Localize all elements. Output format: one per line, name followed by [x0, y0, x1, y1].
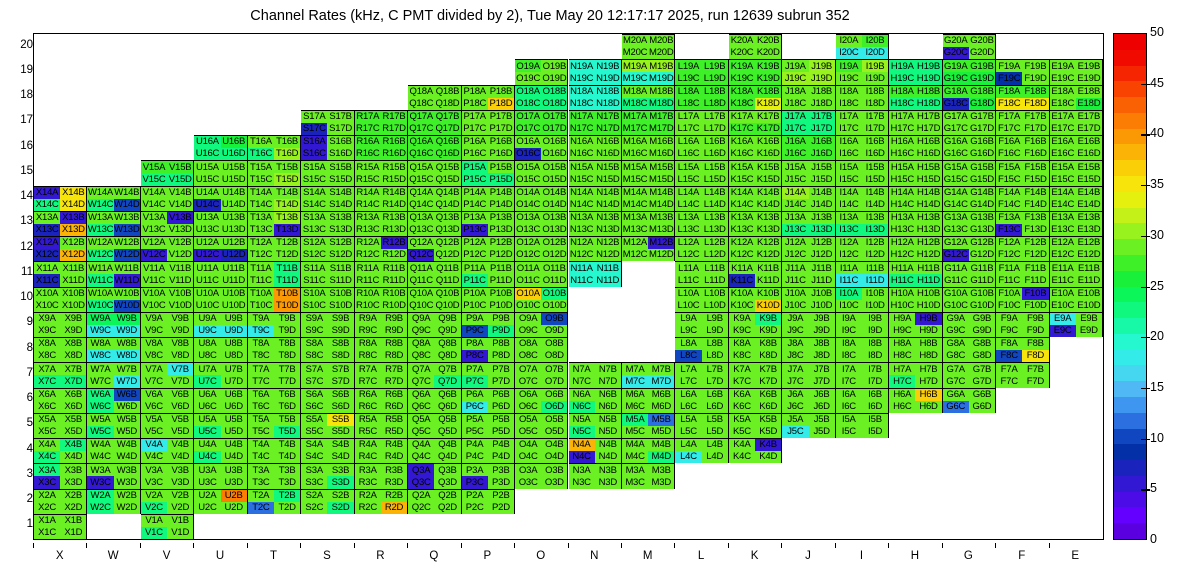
pmt-channel-cell[interactable]: N3C	[569, 476, 595, 488]
pmt-channel-cell[interactable]: F7C	[996, 375, 1022, 387]
pmt-channel-cell[interactable]: S8D	[327, 350, 353, 362]
pmt-channel-cell[interactable]: H13C	[889, 224, 915, 236]
pmt-supercell[interactable]: Q9AQ9BQ9CQ9D	[408, 312, 461, 337]
pmt-channel-cell[interactable]: U11B	[221, 262, 247, 274]
pmt-channel-cell[interactable]: Q2D	[434, 502, 460, 514]
pmt-supercell[interactable]: H8AH8BH8CH8D	[889, 337, 942, 362]
pmt-supercell[interactable]: Q6AQ6BQ6CQ6D	[408, 388, 461, 413]
pmt-channel-cell[interactable]: E14D	[1076, 199, 1102, 211]
pmt-channel-cell[interactable]: U7A	[194, 363, 220, 375]
pmt-channel-cell[interactable]: J7D	[809, 375, 835, 387]
pmt-supercell[interactable]: V15AV15BV15CV15D	[141, 160, 194, 185]
pmt-channel-cell[interactable]: V15C	[141, 173, 167, 185]
pmt-supercell[interactable]: M13AM13BM13CM13D	[622, 211, 675, 236]
pmt-supercell[interactable]: O4AO4BO4CO4D	[515, 438, 568, 463]
pmt-channel-cell[interactable]: L14D	[702, 199, 728, 211]
pmt-channel-cell[interactable]: J6A	[782, 389, 808, 401]
pmt-channel-cell[interactable]: I16B	[862, 136, 888, 148]
pmt-channel-cell[interactable]: X14A	[34, 187, 60, 199]
pmt-supercell[interactable]: I20AI20BI20CI20D	[836, 34, 889, 59]
pmt-channel-cell[interactable]: X5D	[60, 426, 86, 438]
pmt-supercell[interactable]: R7AR7BR7CR7D	[355, 362, 408, 387]
pmt-channel-cell[interactable]: N16B	[595, 136, 621, 148]
pmt-supercell[interactable]: G17AG17BG17CG17D	[943, 110, 996, 135]
pmt-channel-cell[interactable]: M16A	[622, 136, 648, 148]
pmt-channel-cell[interactable]: U9C	[194, 325, 220, 337]
pmt-supercell[interactable]: T12AT12BT12CT12D	[248, 236, 301, 261]
pmt-supercell[interactable]: N4AN4BN4CN4D	[569, 438, 622, 463]
pmt-channel-cell[interactable]: L4A	[675, 439, 701, 451]
pmt-channel-cell[interactable]: Q10C	[408, 300, 434, 312]
pmt-channel-cell[interactable]: K9D	[755, 325, 781, 337]
pmt-supercell[interactable]: X1AX1BX1CX1D	[34, 514, 87, 539]
pmt-channel-cell[interactable]: Q9C	[408, 325, 434, 337]
pmt-channel-cell[interactable]: J8D	[809, 350, 835, 362]
pmt-channel-cell[interactable]: L18A	[675, 86, 701, 98]
pmt-channel-cell[interactable]: R8B	[381, 338, 407, 350]
pmt-channel-cell[interactable]: M20A	[622, 35, 648, 47]
pmt-channel-cell[interactable]: Q17A	[408, 111, 434, 123]
pmt-channel-cell[interactable]: S11C	[301, 274, 327, 286]
pmt-channel-cell[interactable]: V14B	[167, 187, 193, 199]
pmt-channel-cell[interactable]: Q7D	[434, 375, 460, 387]
pmt-channel-cell[interactable]: O11B	[541, 262, 567, 274]
pmt-channel-cell[interactable]: T14A	[248, 187, 274, 199]
pmt-channel-cell[interactable]: G8A	[943, 338, 969, 350]
pmt-channel-cell[interactable]: L11C	[675, 274, 701, 286]
pmt-channel-cell[interactable]: E10A	[1050, 288, 1076, 300]
pmt-channel-cell[interactable]: O16C	[515, 148, 541, 160]
pmt-channel-cell[interactable]: F12A	[996, 237, 1022, 249]
pmt-channel-cell[interactable]: J19B	[809, 60, 835, 72]
pmt-channel-cell[interactable]: M19A	[622, 60, 648, 72]
pmt-channel-cell[interactable]: G7D	[969, 375, 995, 387]
pmt-channel-cell[interactable]: M14B	[648, 187, 674, 199]
pmt-channel-cell[interactable]: Q9D	[434, 325, 460, 337]
pmt-channel-cell[interactable]: R4C	[355, 451, 381, 463]
pmt-channel-cell[interactable]: K19C	[729, 72, 755, 84]
pmt-channel-cell[interactable]: P9C	[462, 325, 488, 337]
pmt-channel-cell[interactable]: F16B	[1022, 136, 1048, 148]
pmt-channel-cell[interactable]: T2D	[274, 502, 300, 514]
pmt-channel-cell[interactable]: N14B	[595, 187, 621, 199]
pmt-channel-cell[interactable]: W11B	[114, 262, 140, 274]
pmt-channel-cell[interactable]: H16D	[915, 148, 941, 160]
pmt-supercell[interactable]: N16AN16BN16CN16D	[569, 135, 622, 160]
pmt-channel-cell[interactable]: L4C	[675, 451, 701, 463]
pmt-channel-cell[interactable]: T4A	[248, 439, 274, 451]
pmt-channel-cell[interactable]: L19C	[675, 72, 701, 84]
pmt-supercell[interactable]: M20AM20BM20CM20D	[622, 34, 675, 59]
pmt-supercell[interactable]: V6AV6BV6CV6D	[141, 388, 194, 413]
pmt-channel-cell[interactable]: R13A	[355, 212, 381, 224]
pmt-supercell[interactable]: J8AJ8BJ8CJ8D	[782, 337, 835, 362]
pmt-supercell[interactable]: K12AK12BK12CK12D	[729, 236, 782, 261]
pmt-channel-cell[interactable]: W6D	[114, 401, 140, 413]
pmt-channel-cell[interactable]: K4B	[755, 439, 781, 451]
pmt-channel-cell[interactable]: P15D	[488, 173, 514, 185]
pmt-channel-cell[interactable]: O6B	[541, 389, 567, 401]
pmt-channel-cell[interactable]: P9B	[488, 313, 514, 325]
pmt-channel-cell[interactable]: K14A	[729, 187, 755, 199]
pmt-channel-cell[interactable]: Q3A	[408, 464, 434, 476]
pmt-channel-cell[interactable]: J18C	[782, 98, 808, 110]
pmt-channel-cell[interactable]: G16A	[943, 136, 969, 148]
pmt-channel-cell[interactable]: I14D	[862, 199, 888, 211]
pmt-channel-cell[interactable]: F8A	[996, 338, 1022, 350]
pmt-channel-cell[interactable]: U5A	[194, 414, 220, 426]
pmt-supercell[interactable]: H12AH12BH12CH12D	[889, 236, 942, 261]
pmt-channel-cell[interactable]: O8D	[541, 350, 567, 362]
pmt-channel-cell[interactable]: P7B	[488, 363, 514, 375]
pmt-channel-cell[interactable]: N4B	[595, 439, 621, 451]
pmt-channel-cell[interactable]: O9A	[515, 313, 541, 325]
pmt-channel-cell[interactable]: O3B	[541, 464, 567, 476]
pmt-channel-cell[interactable]: P7A	[462, 363, 488, 375]
pmt-channel-cell[interactable]: W8D	[114, 350, 140, 362]
pmt-channel-cell[interactable]: L17C	[675, 123, 701, 135]
pmt-channel-cell[interactable]: L5D	[702, 426, 728, 438]
pmt-channel-cell[interactable]: J18B	[809, 86, 835, 98]
pmt-channel-cell[interactable]: V15D	[167, 173, 193, 185]
pmt-supercell[interactable]: V14AV14BV14CV14D	[141, 186, 194, 211]
pmt-supercell[interactable]: I7AI7BI7CI7D	[836, 362, 889, 387]
pmt-channel-cell[interactable]: P15C	[462, 173, 488, 185]
pmt-supercell[interactable]: J13AJ13BJ13CJ13D	[782, 211, 835, 236]
pmt-channel-cell[interactable]: L7B	[702, 363, 728, 375]
pmt-supercell[interactable]: P11AP11BP11CP11D	[462, 261, 515, 286]
pmt-channel-cell[interactable]: Q4A	[408, 439, 434, 451]
pmt-supercell[interactable]: I16AI16BI16CI16D	[836, 135, 889, 160]
pmt-supercell[interactable]: Q4AQ4BQ4CQ4D	[408, 438, 461, 463]
pmt-supercell[interactable]: Q16AQ16BQ16CQ16D	[408, 135, 461, 160]
pmt-supercell[interactable]: R5AR5BR5CR5D	[355, 413, 408, 438]
pmt-channel-cell[interactable]: I18B	[862, 86, 888, 98]
pmt-supercell[interactable]: T4AT4BT4CT4D	[248, 438, 301, 463]
pmt-channel-cell[interactable]: Q8D	[434, 350, 460, 362]
pmt-channel-cell[interactable]: V10C	[141, 300, 167, 312]
pmt-channel-cell[interactable]: T8B	[274, 338, 300, 350]
pmt-channel-cell[interactable]: F12D	[1022, 249, 1048, 261]
pmt-channel-cell[interactable]: R12A	[355, 237, 381, 249]
pmt-supercell[interactable]: I14AI14BI14CI14D	[836, 186, 889, 211]
pmt-channel-cell[interactable]: N6C	[569, 401, 595, 413]
pmt-channel-cell[interactable]: T9A	[248, 313, 274, 325]
pmt-channel-cell[interactable]: K13D	[755, 224, 781, 236]
pmt-channel-cell[interactable]: I9B	[862, 313, 888, 325]
pmt-channel-cell[interactable]: M7D	[648, 375, 674, 387]
pmt-channel-cell[interactable]: P8D	[488, 350, 514, 362]
pmt-channel-cell[interactable]: T5B	[274, 414, 300, 426]
pmt-channel-cell[interactable]: Q16A	[408, 136, 434, 148]
pmt-supercell[interactable]: M6AM6BM6CM6D	[622, 388, 675, 413]
pmt-channel-cell[interactable]: J19D	[809, 72, 835, 84]
pmt-supercell[interactable]: E12AE12BE12CE12D	[1050, 236, 1103, 261]
pmt-channel-cell[interactable]: T8A	[248, 338, 274, 350]
pmt-channel-cell[interactable]: X13C	[34, 224, 60, 236]
pmt-channel-cell[interactable]: W8B	[114, 338, 140, 350]
pmt-channel-cell[interactable]: I10D	[862, 300, 888, 312]
pmt-supercell[interactable]: T11AT11BT11CT11D	[248, 261, 301, 286]
pmt-channel-cell[interactable]: M13A	[622, 212, 648, 224]
pmt-channel-cell[interactable]: Q8C	[408, 350, 434, 362]
pmt-channel-cell[interactable]: L8A	[675, 338, 701, 350]
pmt-channel-cell[interactable]: T11A	[248, 262, 274, 274]
pmt-channel-cell[interactable]: F10A	[996, 288, 1022, 300]
pmt-channel-cell[interactable]: E13A	[1050, 212, 1076, 224]
pmt-channel-cell[interactable]: E15D	[1076, 173, 1102, 185]
pmt-supercell[interactable]: H6AH6BH6CH6D	[889, 388, 942, 413]
pmt-channel-cell[interactable]: V2A	[141, 490, 167, 502]
pmt-channel-cell[interactable]: S3D	[327, 476, 353, 488]
pmt-channel-cell[interactable]: N18D	[595, 98, 621, 110]
pmt-channel-cell[interactable]: J10D	[809, 300, 835, 312]
pmt-channel-cell[interactable]: Q9B	[434, 313, 460, 325]
pmt-channel-cell[interactable]: R7B	[381, 363, 407, 375]
pmt-channel-cell[interactable]: L9D	[702, 325, 728, 337]
pmt-channel-cell[interactable]: X13A	[34, 212, 60, 224]
pmt-supercell[interactable]: G13AG13BG13CG13D	[943, 211, 996, 236]
pmt-channel-cell[interactable]: T3A	[248, 464, 274, 476]
pmt-channel-cell[interactable]: W4C	[87, 451, 113, 463]
pmt-channel-cell[interactable]: O7C	[515, 375, 541, 387]
pmt-channel-cell[interactable]: O12D	[541, 249, 567, 261]
pmt-channel-cell[interactable]: F14C	[996, 199, 1022, 211]
pmt-channel-cell[interactable]: K9B	[755, 313, 781, 325]
pmt-channel-cell[interactable]: X3A	[34, 464, 60, 476]
pmt-supercell[interactable]: J9AJ9BJ9CJ9D	[782, 312, 835, 337]
pmt-channel-cell[interactable]: E9D	[1076, 325, 1102, 337]
pmt-channel-cell[interactable]: V8B	[167, 338, 193, 350]
pmt-channel-cell[interactable]: U5D	[221, 426, 247, 438]
pmt-channel-cell[interactable]: J17C	[782, 123, 808, 135]
pmt-channel-cell[interactable]: P3A	[462, 464, 488, 476]
pmt-channel-cell[interactable]: R15B	[381, 161, 407, 173]
pmt-channel-cell[interactable]: E9A	[1050, 313, 1076, 325]
pmt-channel-cell[interactable]: K6C	[729, 401, 755, 413]
pmt-channel-cell[interactable]: V15A	[141, 161, 167, 173]
pmt-channel-cell[interactable]: M6D	[648, 401, 674, 413]
pmt-channel-cell[interactable]: H8A	[889, 338, 915, 350]
pmt-channel-cell[interactable]: P17D	[488, 123, 514, 135]
pmt-channel-cell[interactable]: N16C	[569, 148, 595, 160]
pmt-channel-cell[interactable]: Q7A	[408, 363, 434, 375]
pmt-channel-cell[interactable]: T7C	[248, 375, 274, 387]
pmt-channel-cell[interactable]: U6C	[194, 401, 220, 413]
pmt-channel-cell[interactable]: T2A	[248, 490, 274, 502]
pmt-channel-cell[interactable]: S15A	[301, 161, 327, 173]
pmt-channel-cell[interactable]: M15A	[622, 161, 648, 173]
pmt-channel-cell[interactable]: E17D	[1076, 123, 1102, 135]
pmt-supercell[interactable]: W5AW5BW5CW5D	[87, 413, 140, 438]
pmt-channel-cell[interactable]: P2B	[488, 490, 514, 502]
pmt-channel-cell[interactable]: R7D	[381, 375, 407, 387]
pmt-supercell[interactable]: S12AS12BS12CS12D	[301, 236, 354, 261]
pmt-channel-cell[interactable]: G20D	[969, 47, 995, 59]
pmt-channel-cell[interactable]: U14D	[221, 199, 247, 211]
pmt-channel-cell[interactable]: I12C	[836, 249, 862, 261]
pmt-channel-cell[interactable]: R11C	[355, 274, 381, 286]
pmt-supercell[interactable]: J7AJ7BJ7CJ7D	[782, 362, 835, 387]
pmt-channel-cell[interactable]: F18B	[1022, 86, 1048, 98]
pmt-supercell[interactable]: O10AO10BO10CO10D	[515, 287, 568, 312]
pmt-supercell[interactable]: T14AT14BT14CT14D	[248, 186, 301, 211]
pmt-channel-cell[interactable]: X5A	[34, 414, 60, 426]
pmt-channel-cell[interactable]: O13B	[541, 212, 567, 224]
pmt-channel-cell[interactable]: Q10A	[408, 288, 434, 300]
pmt-channel-cell[interactable]: M19B	[648, 60, 674, 72]
pmt-channel-cell[interactable]: U3A	[194, 464, 220, 476]
pmt-supercell[interactable]: Q15AQ15BQ15CQ15D	[408, 160, 461, 185]
pmt-channel-cell[interactable]: Q2B	[434, 490, 460, 502]
pmt-channel-cell[interactable]: S9A	[301, 313, 327, 325]
pmt-supercell[interactable]: J16AJ16BJ16CJ16D	[782, 135, 835, 160]
pmt-channel-cell[interactable]: R9C	[355, 325, 381, 337]
pmt-channel-cell[interactable]: S5C	[301, 426, 327, 438]
pmt-supercell[interactable]: N6AN6BN6CN6D	[569, 388, 622, 413]
pmt-channel-cell[interactable]: I17B	[862, 111, 888, 123]
pmt-supercell[interactable]: J19AJ19BJ19CJ19D	[782, 59, 835, 84]
pmt-channel-cell[interactable]: S4B	[327, 439, 353, 451]
pmt-supercell[interactable]: U14AU14BU14CU14D	[194, 186, 247, 211]
pmt-channel-cell[interactable]: K4D	[755, 451, 781, 463]
pmt-channel-cell[interactable]: Q6A	[408, 389, 434, 401]
pmt-channel-cell[interactable]: S12C	[301, 249, 327, 261]
pmt-channel-cell[interactable]: G9C	[943, 325, 969, 337]
pmt-channel-cell[interactable]: V11A	[141, 262, 167, 274]
pmt-channel-cell[interactable]: M7A	[622, 363, 648, 375]
pmt-channel-cell[interactable]: S16D	[327, 148, 353, 160]
pmt-channel-cell[interactable]: L9B	[702, 313, 728, 325]
pmt-channel-cell[interactable]: E13C	[1050, 224, 1076, 236]
pmt-channel-cell[interactable]: N18B	[595, 86, 621, 98]
pmt-channel-cell[interactable]: G11D	[969, 274, 995, 286]
pmt-channel-cell[interactable]: J15D	[809, 173, 835, 185]
pmt-channel-cell[interactable]: I10A	[836, 288, 862, 300]
pmt-channel-cell[interactable]: W4A	[87, 439, 113, 451]
pmt-channel-cell[interactable]: M15B	[648, 161, 674, 173]
pmt-channel-cell[interactable]: M15C	[622, 173, 648, 185]
pmt-supercell[interactable]: O13AO13BO13CO13D	[515, 211, 568, 236]
pmt-channel-cell[interactable]: O18C	[515, 98, 541, 110]
pmt-channel-cell[interactable]: E19D	[1076, 72, 1102, 84]
pmt-channel-cell[interactable]: K12B	[755, 237, 781, 249]
pmt-channel-cell[interactable]: E16D	[1076, 148, 1102, 160]
pmt-channel-cell[interactable]: H7C	[889, 375, 915, 387]
pmt-channel-cell[interactable]: S9B	[327, 313, 353, 325]
pmt-channel-cell[interactable]: E16B	[1076, 136, 1102, 148]
pmt-supercell[interactable]: G18AG18BG18CG18D	[943, 85, 996, 110]
pmt-supercell[interactable]: L12AL12BL12CL12D	[675, 236, 728, 261]
pmt-channel-cell[interactable]: I17C	[836, 123, 862, 135]
pmt-channel-cell[interactable]: L16B	[702, 136, 728, 148]
pmt-channel-cell[interactable]: M6A	[622, 389, 648, 401]
pmt-channel-cell[interactable]: H18C	[889, 98, 915, 110]
pmt-channel-cell[interactable]: X7D	[60, 375, 86, 387]
pmt-supercell[interactable]: V12AV12BV12CV12D	[141, 236, 194, 261]
pmt-channel-cell[interactable]: N4C	[569, 451, 595, 463]
pmt-channel-cell[interactable]: O14B	[541, 187, 567, 199]
pmt-channel-cell[interactable]: X6C	[34, 401, 60, 413]
pmt-supercell[interactable]: Q5AQ5BQ5CQ5D	[408, 413, 461, 438]
pmt-channel-cell[interactable]: V1A	[141, 515, 167, 527]
pmt-supercell[interactable]: M17AM17BM17CM17D	[622, 110, 675, 135]
pmt-channel-cell[interactable]: N7A	[569, 363, 595, 375]
pmt-supercell[interactable]: Q8AQ8BQ8CQ8D	[408, 337, 461, 362]
pmt-channel-cell[interactable]: J6D	[809, 401, 835, 413]
pmt-supercell[interactable]: G6AG6BG6CG6D	[943, 388, 996, 413]
pmt-supercell[interactable]: K14AK14BK14CK14D	[729, 186, 782, 211]
pmt-channel-cell[interactable]: L17D	[702, 123, 728, 135]
pmt-supercell[interactable]: O19AO19BO19CO19D	[515, 59, 568, 84]
pmt-channel-cell[interactable]: G7B	[969, 363, 995, 375]
pmt-channel-cell[interactable]: Q11B	[434, 262, 460, 274]
pmt-channel-cell[interactable]: K16C	[729, 148, 755, 160]
pmt-channel-cell[interactable]: R5B	[381, 414, 407, 426]
pmt-channel-cell[interactable]: I15C	[836, 173, 862, 185]
pmt-supercell[interactable]: N12AN12BN12CN12D	[569, 236, 622, 261]
pmt-channel-cell[interactable]: E16C	[1050, 148, 1076, 160]
pmt-channel-cell[interactable]: E10D	[1076, 300, 1102, 312]
pmt-channel-cell[interactable]: K6A	[729, 389, 755, 401]
pmt-channel-cell[interactable]: O14D	[541, 199, 567, 211]
pmt-supercell[interactable]: Q2AQ2BQ2CQ2D	[408, 489, 461, 514]
pmt-channel-cell[interactable]: K20B	[755, 35, 781, 47]
pmt-channel-cell[interactable]: R17B	[381, 111, 407, 123]
pmt-channel-cell[interactable]: V5B	[167, 414, 193, 426]
pmt-channel-cell[interactable]: L15D	[702, 173, 728, 185]
pmt-supercell[interactable]: S3AS3BS3CS3D	[301, 463, 354, 488]
pmt-channel-cell[interactable]: H9D	[915, 325, 941, 337]
pmt-channel-cell[interactable]: M3C	[622, 476, 648, 488]
pmt-channel-cell[interactable]: R14C	[355, 199, 381, 211]
pmt-channel-cell[interactable]: M13D	[648, 224, 674, 236]
pmt-channel-cell[interactable]: S4D	[327, 451, 353, 463]
pmt-channel-cell[interactable]: P4D	[488, 451, 514, 463]
pmt-channel-cell[interactable]: I7D	[862, 375, 888, 387]
pmt-channel-cell[interactable]: P12B	[488, 237, 514, 249]
pmt-channel-cell[interactable]: G19D	[969, 72, 995, 84]
pmt-channel-cell[interactable]: P16D	[488, 148, 514, 160]
pmt-channel-cell[interactable]: K6B	[755, 389, 781, 401]
pmt-channel-cell[interactable]: S12D	[327, 249, 353, 261]
pmt-channel-cell[interactable]: W12A	[87, 237, 113, 249]
pmt-supercell[interactable]: I9AI9BI9CI9D	[836, 312, 889, 337]
pmt-channel-cell[interactable]: F17D	[1022, 123, 1048, 135]
pmt-supercell[interactable]: V10AV10BV10CV10D	[141, 287, 194, 312]
pmt-channel-cell[interactable]: O10C	[515, 300, 541, 312]
pmt-channel-cell[interactable]: Q15A	[408, 161, 434, 173]
pmt-supercell[interactable]: H10AH10BH10CH10D	[889, 287, 942, 312]
pmt-channel-cell[interactable]: G13D	[969, 224, 995, 236]
pmt-supercell[interactable]: R14AR14BR14CR14D	[355, 186, 408, 211]
pmt-channel-cell[interactable]: H13A	[889, 212, 915, 224]
pmt-channel-cell[interactable]: T15C	[248, 173, 274, 185]
pmt-channel-cell[interactable]: L13C	[675, 224, 701, 236]
pmt-channel-cell[interactable]: M16C	[622, 148, 648, 160]
pmt-channel-cell[interactable]: V6C	[141, 401, 167, 413]
pmt-channel-cell[interactable]: I5C	[836, 426, 862, 438]
pmt-supercell[interactable]: E16AE16BE16CE16D	[1050, 135, 1103, 160]
pmt-channel-cell[interactable]: F19A	[996, 60, 1022, 72]
pmt-channel-cell[interactable]: H9A	[889, 313, 915, 325]
pmt-channel-cell[interactable]: N17A	[569, 111, 595, 123]
pmt-channel-cell[interactable]: J17D	[809, 123, 835, 135]
pmt-channel-cell[interactable]: W9D	[114, 325, 140, 337]
pmt-channel-cell[interactable]: U6A	[194, 389, 220, 401]
pmt-channel-cell[interactable]: X9C	[34, 325, 60, 337]
pmt-channel-cell[interactable]: V10A	[141, 288, 167, 300]
